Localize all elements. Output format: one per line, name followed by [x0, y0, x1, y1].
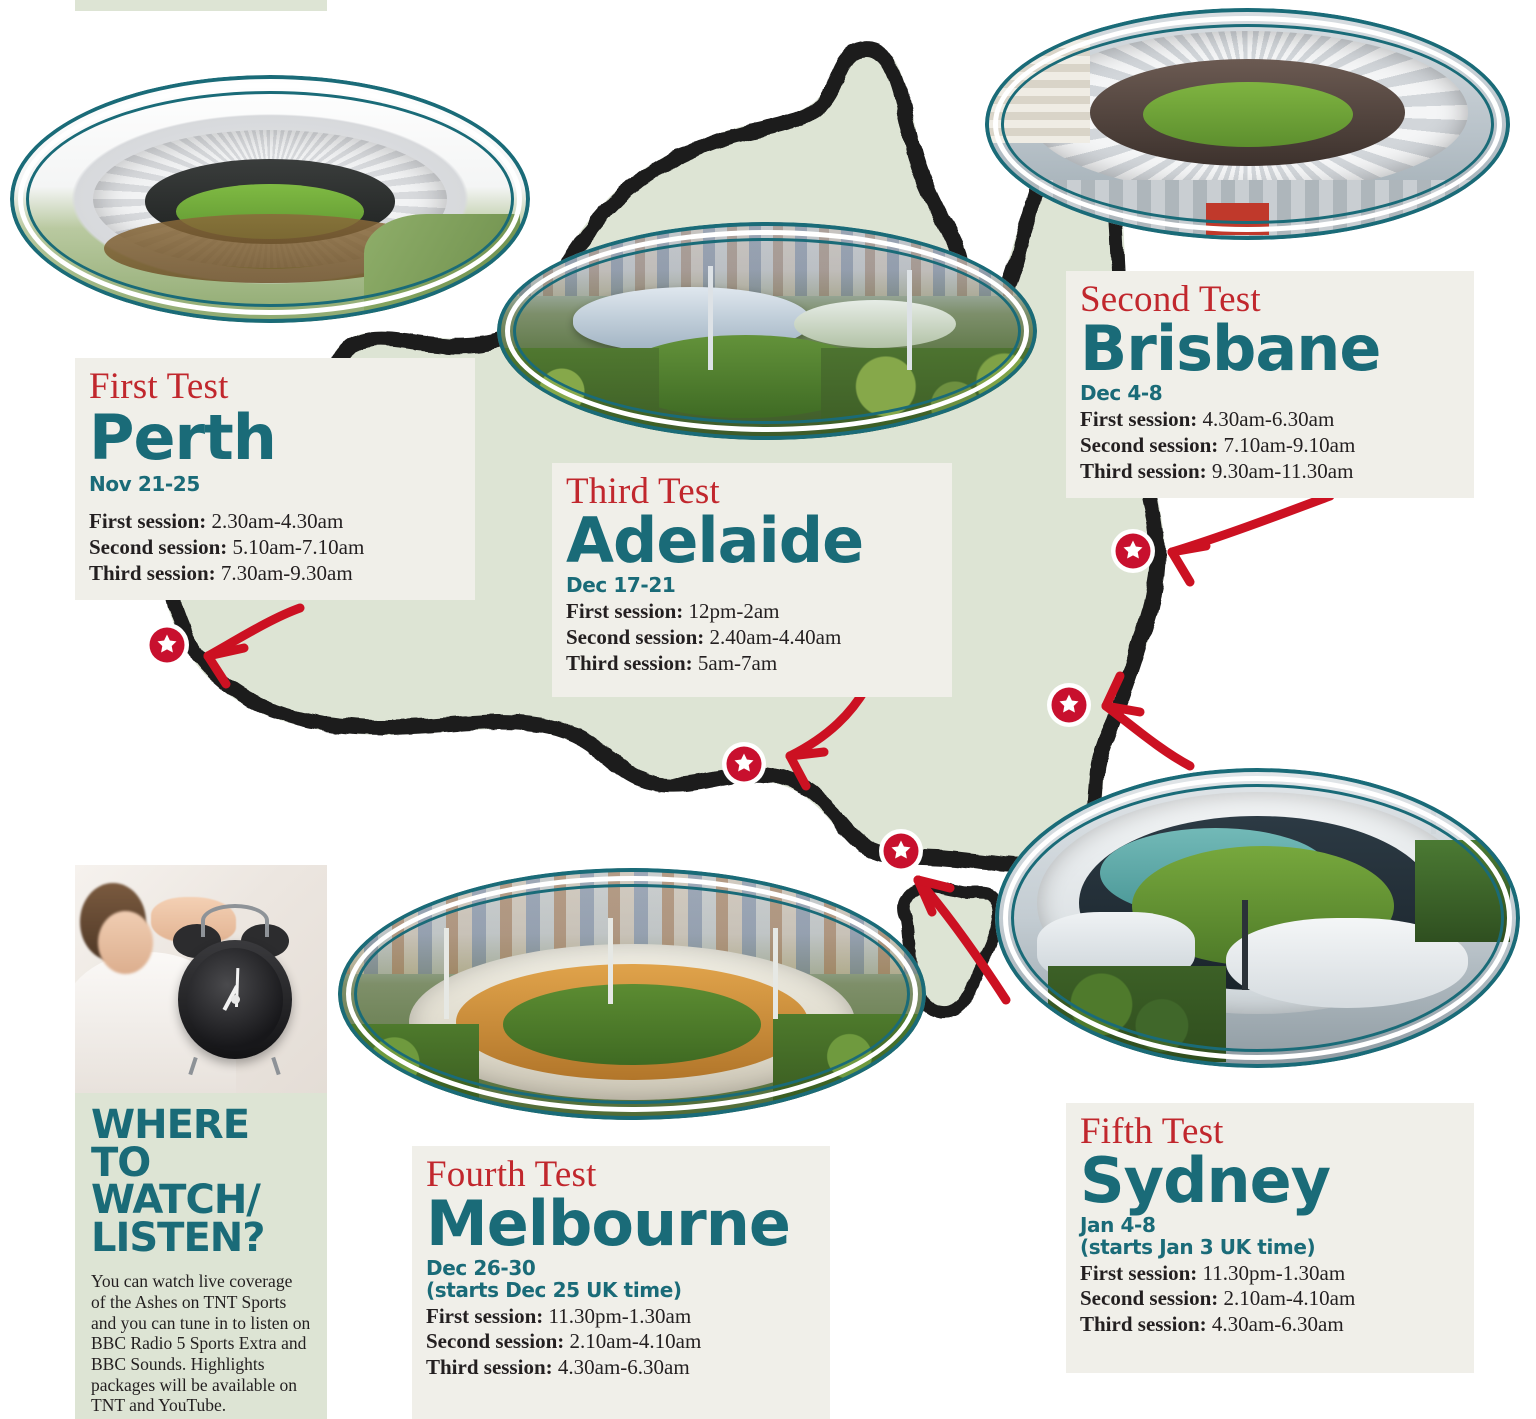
session-label: Third session:: [566, 651, 693, 675]
session-row: Third session: 7.30am-9.30am: [89, 561, 461, 587]
session-row: Third session: 9.30am-11.30am: [1080, 459, 1460, 485]
session-label: Second session:: [566, 625, 704, 649]
test-dates: Dec 26-30: [426, 1257, 816, 1279]
session-label: Second session:: [426, 1329, 564, 1353]
melbourne-mcg-photo: [338, 868, 926, 1120]
test-city: Adelaide: [566, 512, 938, 571]
adelaide-oval-photo: [497, 222, 1037, 440]
test-dates: Dec 17-21: [566, 574, 938, 596]
session-time: 2.10am-4.10am: [1224, 1286, 1356, 1310]
test-dates: Jan 4-8: [1080, 1214, 1460, 1236]
session-label: Third session:: [1080, 1312, 1207, 1336]
test-kicker: First Test: [89, 368, 461, 405]
session-time: 4.30am-6.30am: [1203, 407, 1335, 431]
session-label: Third session:: [89, 561, 216, 585]
where-to-watch-heading: WHERE TO WATCH/ LISTEN?: [91, 1107, 311, 1257]
arrow-to-brisbane: [1172, 496, 1330, 582]
session-label: First session:: [426, 1304, 543, 1328]
test-uk-note: (starts Dec 25 UK time): [426, 1279, 816, 1301]
session-time: 5am-7am: [698, 651, 777, 675]
session-time: 7.30am-9.30am: [221, 561, 353, 585]
perth-stadium-photo: [10, 75, 530, 323]
session-label: First session:: [1080, 1261, 1197, 1285]
test-card-brisbane: Second Test Brisbane Dec 4-8 First sessi…: [1066, 271, 1474, 498]
session-row: Third session: 4.30am-6.30am: [1080, 1312, 1460, 1338]
session-time: 11.30pm-1.30am: [549, 1304, 692, 1328]
map-marker-sydney[interactable]: [1047, 683, 1091, 727]
session-time: 2.10am-4.10am: [570, 1329, 702, 1353]
session-row: First session: 12pm-2am: [566, 599, 938, 625]
test-card-sydney: Fifth Test Sydney Jan 4-8 (starts Jan 3 …: [1066, 1103, 1474, 1373]
session-row: First session: 11.30pm-1.30am: [426, 1304, 816, 1330]
session-time: 11.30pm-1.30am: [1203, 1261, 1346, 1285]
session-time: 4.30am-6.30am: [558, 1355, 690, 1379]
test-city: Brisbane: [1080, 320, 1460, 379]
session-time: 7.10am-9.10am: [1224, 433, 1356, 457]
session-label: Third session:: [1080, 459, 1207, 483]
session-label: First session:: [89, 509, 206, 533]
session-row: Second session: 5.10am-7.10am: [89, 535, 461, 561]
session-row: First session: 2.30am-4.30am: [89, 509, 461, 535]
session-time: 2.30am-4.30am: [212, 509, 344, 533]
where-to-watch-panel: WHERE TO WATCH/ LISTEN? You can watch li…: [75, 1093, 327, 1419]
session-row: Third session: 4.30am-6.30am: [426, 1355, 816, 1381]
map-marker-melbourne[interactable]: [879, 829, 923, 873]
brisbane-gabba-photo: [985, 8, 1510, 240]
session-label: Second session:: [1080, 1286, 1218, 1310]
session-label: Third session:: [426, 1355, 553, 1379]
arrow-to-sydney: [1106, 676, 1190, 766]
map-marker-perth[interactable]: [145, 623, 189, 667]
session-label: Second session:: [1080, 433, 1218, 457]
test-dates: Nov 21-25: [89, 473, 461, 495]
test-dates: Dec 4-8: [1080, 382, 1460, 404]
map-marker-brisbane[interactable]: [1111, 529, 1155, 573]
test-city: Perth: [89, 409, 461, 468]
map-marker-adelaide[interactable]: [722, 742, 766, 786]
test-card-melbourne: Fourth Test Melbourne Dec 26-30 (starts …: [412, 1146, 830, 1419]
session-row: Second session: 2.10am-4.10am: [426, 1329, 816, 1355]
session-label: First session:: [1080, 407, 1197, 431]
where-to-watch-body: You can watch live coverage of the Ashes…: [91, 1271, 311, 1415]
test-city: Sydney: [1080, 1152, 1460, 1211]
session-time: 12pm-2am: [689, 599, 780, 623]
session-time: 4.30am-6.30am: [1212, 1312, 1344, 1336]
session-label: Second session:: [89, 535, 227, 559]
session-row: Second session: 7.10am-9.10am: [1080, 433, 1460, 459]
test-card-adelaide: Third Test Adelaide Dec 17-21 First sess…: [552, 463, 952, 697]
infographic-canvas: First Test Perth Nov 21-25 First session…: [0, 0, 1536, 1419]
session-row: Third session: 5am-7am: [566, 651, 938, 677]
session-row: First session: 11.30pm-1.30am: [1080, 1261, 1460, 1287]
session-row: First session: 4.30am-6.30am: [1080, 407, 1460, 433]
heading-line-3: LISTEN?: [91, 1215, 264, 1261]
session-time: 5.10am-7.10am: [233, 535, 365, 559]
alarm-clock-photo: [75, 865, 327, 1093]
session-label: First session:: [566, 599, 683, 623]
test-uk-note: (starts Jan 3 UK time): [1080, 1236, 1460, 1258]
test-card-perth: First Test Perth Nov 21-25 First session…: [75, 358, 475, 600]
session-row: Second session: 2.10am-4.10am: [1080, 1286, 1460, 1312]
session-time: 2.40am-4.40am: [710, 625, 842, 649]
test-city: Melbourne: [426, 1195, 816, 1254]
heading-line-1: WHERE TO: [91, 1102, 249, 1186]
session-row: Second session: 2.40am-4.40am: [566, 625, 938, 651]
sydney-scg-photo: [995, 768, 1520, 1068]
session-time: 9.30am-11.30am: [1212, 459, 1354, 483]
